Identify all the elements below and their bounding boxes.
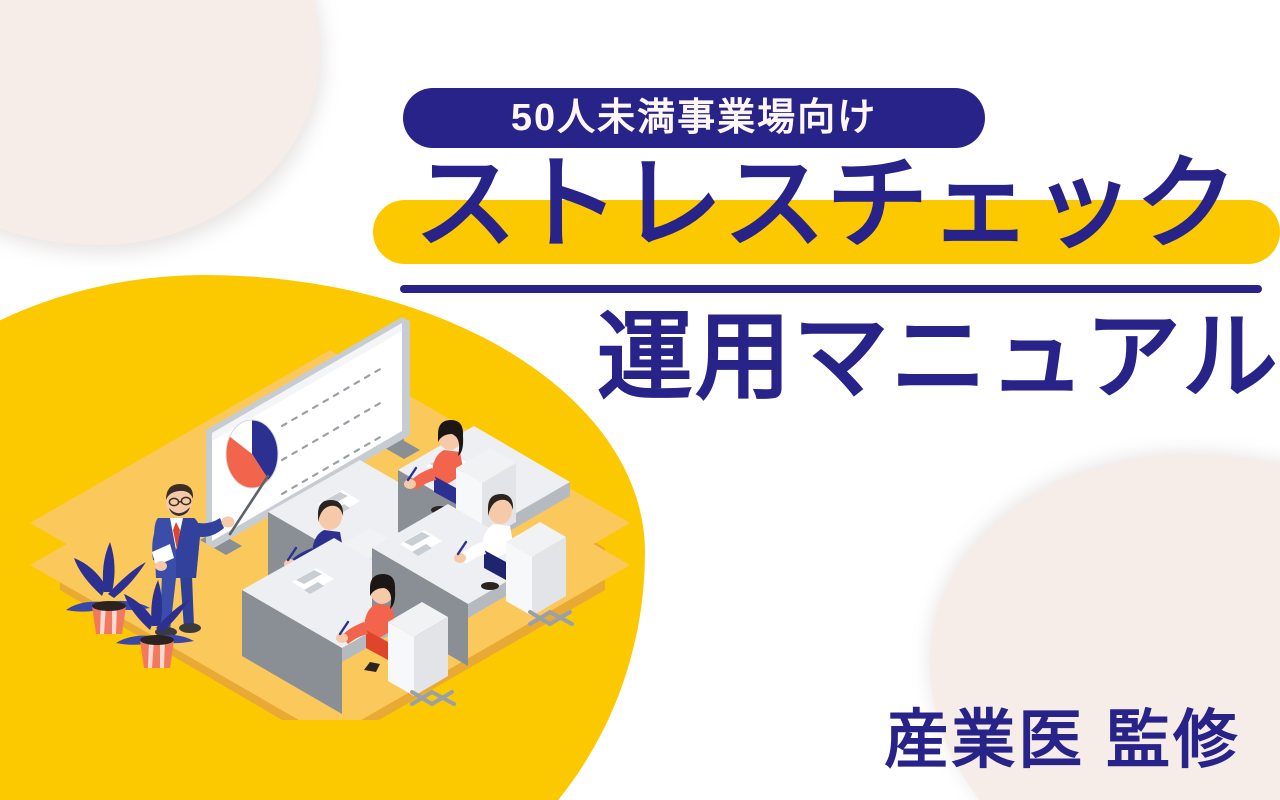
audience-badge-label: 50人未満事業場向け bbox=[511, 99, 877, 137]
title-divider bbox=[400, 285, 1262, 293]
title-block: ストレスチェック bbox=[373, 152, 1280, 274]
audience-badge: 50人未満事業場向け bbox=[403, 88, 985, 148]
page-title: ストレスチェック bbox=[373, 152, 1280, 256]
chair-base bbox=[412, 692, 454, 704]
supervisor-credit: 産業医 監修 bbox=[740, 708, 1240, 772]
page-subtitle: 運用マニュアル bbox=[373, 305, 1280, 411]
decorative-blob-top-left bbox=[0, 0, 320, 245]
banner-canvas: 50人未満事業場向け ストレスチェック 運用マニュアル 産業医 監修 bbox=[0, 0, 1280, 800]
